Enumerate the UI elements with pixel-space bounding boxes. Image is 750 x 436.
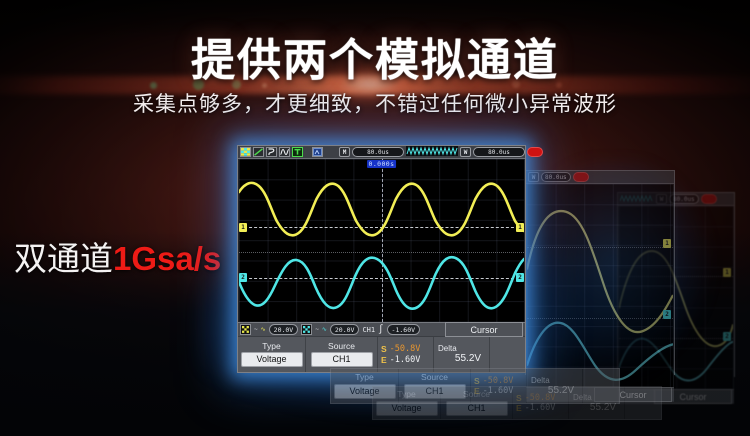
trigger-edge-icon[interactable]: ∫: [378, 325, 383, 335]
menu-delta-label: Delta: [438, 345, 457, 353]
menu-type[interactable]: Type Voltage: [238, 337, 306, 372]
cursor-s-value: -50.8V: [390, 345, 421, 354]
menu-cursor-se[interactable]: S -50.8V E -1.60V: [378, 337, 434, 372]
ch1-grid-icon[interactable]: [240, 324, 251, 335]
scope-softkey-menu[interactable]: Type Voltage Source CH1 S -50.8V E -1.60…: [238, 337, 525, 372]
ch2-left-marker[interactable]: 2: [239, 273, 247, 282]
waveform-icon[interactable]: [279, 147, 290, 157]
trigger-level[interactable]: -1.60V: [387, 324, 420, 335]
waveform-display[interactable]: 0.000s 1 1 2 2: [238, 159, 525, 322]
hero-banner: 提供两个模拟通道 采集点够多，才更细致，不错过任何微小异常波形 双通道1Gsa/…: [0, 0, 750, 436]
ch1-coupling-icon[interactable]: ~: [254, 326, 258, 333]
menu-type-value[interactable]: Voltage: [241, 352, 303, 367]
slope-icon[interactable]: [253, 147, 264, 157]
menu-delta-value: 55.2V: [438, 354, 490, 364]
ch2-coupling-icon[interactable]: ~: [315, 326, 319, 333]
ch2-bandwidth-icon[interactable]: ∿: [322, 326, 327, 333]
oscilloscope-screen[interactable]: M 80.0us W 80.0us 0.000s 1 1 2 2: [237, 145, 526, 373]
ch2-right-marker[interactable]: 2: [516, 273, 524, 282]
capture-icon[interactable]: [312, 147, 323, 157]
cursor-e-row: E -1.60V: [381, 356, 420, 365]
rec-indicator[interactable]: [527, 147, 543, 157]
ch1-right-marker[interactable]: 1: [516, 223, 524, 232]
left-claim: 双通道1Gsa/s: [14, 232, 221, 280]
ch1-bandwidth-icon[interactable]: ∿: [261, 326, 266, 333]
menu-source-label: Source: [328, 342, 355, 351]
scope-traces: [239, 159, 524, 322]
cursor-e-value: -1.60V: [390, 356, 421, 365]
record-badge[interactable]: W: [460, 147, 471, 157]
ch1-scale[interactable]: 20.0V: [269, 324, 299, 335]
ch2-scale[interactable]: 20.0V: [330, 324, 360, 335]
menu-source-value[interactable]: CH1: [311, 352, 373, 367]
memory-time[interactable]: 80.0us: [352, 147, 404, 157]
cursor-s-row: S -50.8V: [381, 345, 420, 354]
cursor-e-key: E: [381, 356, 387, 365]
menu-type-label: Type: [262, 342, 280, 351]
toolbar-divider: [325, 147, 337, 157]
menu-source[interactable]: Source CH1: [306, 337, 378, 372]
menu-delta[interactable]: Delta 55.2V: [434, 337, 490, 372]
menu-empty-slot: [490, 337, 525, 372]
scope-toolbar[interactable]: M 80.0us W 80.0us: [238, 146, 525, 159]
scope-statusbar[interactable]: ~ ∿ 20.0V ~ ∿ 20.0V CH1 ∫ -1.60V Cursor: [238, 322, 525, 337]
record-time[interactable]: 80.0us: [473, 147, 525, 157]
page-subtitle: 采集点够多，才更细致，不错过任何微小异常波形: [0, 88, 750, 118]
page-title: 提供两个模拟通道: [0, 24, 750, 88]
grid-icon[interactable]: [240, 147, 251, 157]
trigger-t-icon[interactable]: [292, 147, 303, 157]
cursor-button[interactable]: Cursor: [445, 322, 523, 337]
run-icon[interactable]: [266, 147, 277, 157]
ch1-left-marker[interactable]: 1: [239, 223, 247, 232]
ch2-grid-icon[interactable]: [301, 324, 312, 335]
memory-badge[interactable]: M: [339, 147, 350, 157]
left-claim-label: 双通道: [14, 239, 113, 278]
toolbar-divider: [305, 147, 310, 157]
left-claim-value: 1Gsa/s: [113, 240, 221, 277]
cursor-s-key: S: [381, 345, 387, 354]
trigger-source-label[interactable]: CH1: [362, 326, 375, 334]
